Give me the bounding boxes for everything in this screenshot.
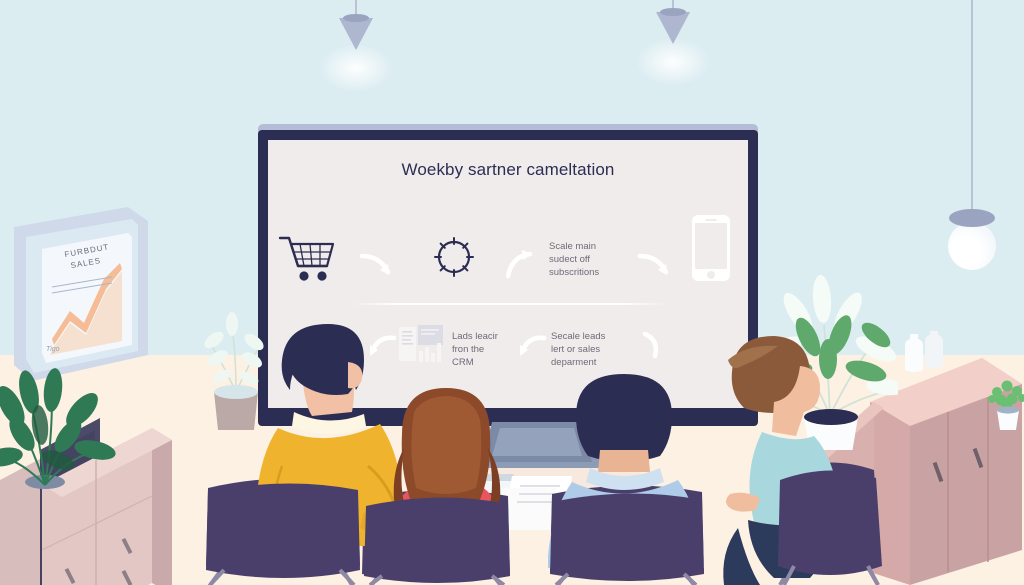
shopping-cart-icon [276,232,338,289]
office-scene: FURBDUT SALES Tigo Woekby sartner camelt… [0,0,1024,585]
smartphone-icon [692,215,730,281]
arrow-curve-left-icon [637,330,675,369]
slide-divider [352,303,666,305]
slide-text-top-right: Scale main sudect off subscritions [549,240,635,279]
conference-chair-front[interactable] [536,488,714,585]
conference-chair-front[interactable] [766,462,896,585]
slide-title: Woekby sartner cameltation [268,160,748,180]
large-leafy-plant-left [0,330,130,540]
arrow-curve-left-icon [512,332,550,371]
arrow-curve-right-icon [502,248,542,289]
white-vases [899,330,949,380]
arrow-curve-right-icon [636,250,676,289]
small-potted-plant-right [985,378,1024,436]
conference-chair-front[interactable] [188,478,368,585]
clock-icon [430,233,478,286]
arrow-curve-right-icon [358,250,398,289]
conference-chair-front[interactable] [352,492,520,585]
slide-text-bottom-right: Secale leads lert or sales deparment [551,330,635,369]
